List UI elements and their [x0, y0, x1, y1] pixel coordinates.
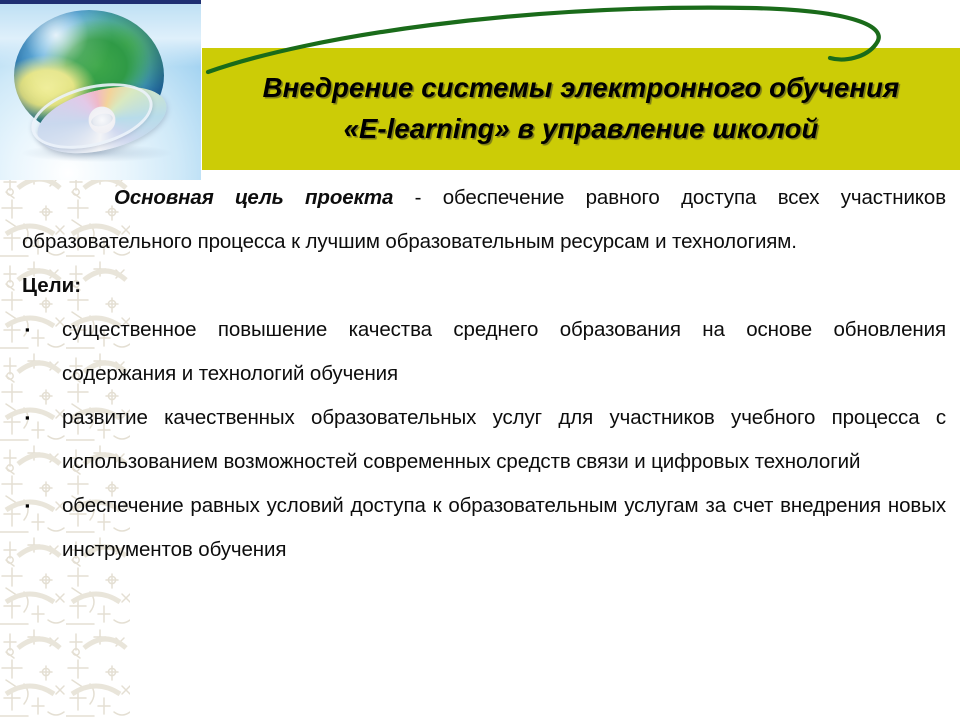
bullet-square-icon: ▪ [25, 308, 30, 352]
goals-heading: Цели: [0, 264, 960, 308]
title-line-1: Внедрение системы электронного обучения [263, 74, 900, 103]
main-goal-paragraph: Основная цель проекта - обеспечение равн… [0, 176, 960, 264]
bullet-square-icon: ▪ [25, 484, 30, 528]
title-line-2: «E-learning» в управление школой [344, 115, 819, 144]
list-item-text: развитие качественных образовательных ус… [62, 406, 946, 473]
list-item: ▪обеспечение равных условий доступа к об… [0, 484, 960, 572]
slide-body: Основная цель проекта - обеспечение равн… [0, 176, 960, 572]
list-item: ▪существенное повышение качества среднег… [0, 308, 960, 396]
main-goal-label: Основная цель проекта [114, 186, 393, 209]
list-item-text: обеспечение равных условий доступа к обр… [62, 494, 946, 561]
slide-title: Внедрение системы электронного обучения … [202, 48, 960, 170]
slide-canvas: Внедрение системы электронного обучения … [0, 0, 960, 720]
list-item-text: существенное повышение качества среднего… [62, 318, 946, 385]
goals-list: ▪существенное повышение качества среднег… [0, 308, 960, 572]
bullet-square-icon: ▪ [25, 396, 30, 440]
list-item: ▪развитие качественных образовательных у… [0, 396, 960, 484]
globe-cd-image [0, 0, 201, 180]
